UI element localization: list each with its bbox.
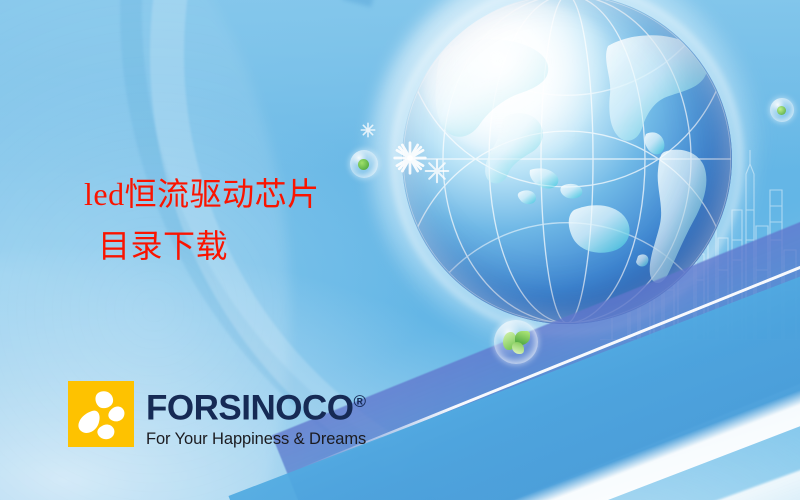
logo-text-block: FORSINOCO® For Your Happiness & Dreams bbox=[146, 381, 366, 449]
headline-line-2: 目录下载 bbox=[84, 220, 414, 272]
registered-mark: ® bbox=[353, 392, 366, 411]
starburst-medium-icon bbox=[424, 158, 450, 184]
globe-graphic bbox=[402, 0, 732, 324]
headline-text: led恒流驱动芯片 目录下载 bbox=[84, 168, 414, 272]
brand-name: FORSINOCO® bbox=[146, 383, 366, 428]
brand-tagline: For Your Happiness & Dreams bbox=[146, 429, 366, 449]
bubble-pinwheel-mid bbox=[494, 320, 538, 364]
headline-line-1: led恒流驱动芯片 bbox=[84, 168, 414, 220]
brand-logo: FORSINOCO® For Your Happiness & Dreams bbox=[68, 381, 366, 449]
starburst-small-icon bbox=[360, 122, 376, 138]
poster-canvas: led恒流驱动芯片 目录下载 FORSINOCO® For Your Happi… bbox=[0, 0, 800, 500]
bubble-small-right bbox=[770, 98, 794, 122]
logo-mark-icon bbox=[68, 381, 134, 447]
pinwheel-flower-icon bbox=[68, 381, 134, 447]
brand-name-text: FORSINOCO bbox=[146, 389, 353, 428]
